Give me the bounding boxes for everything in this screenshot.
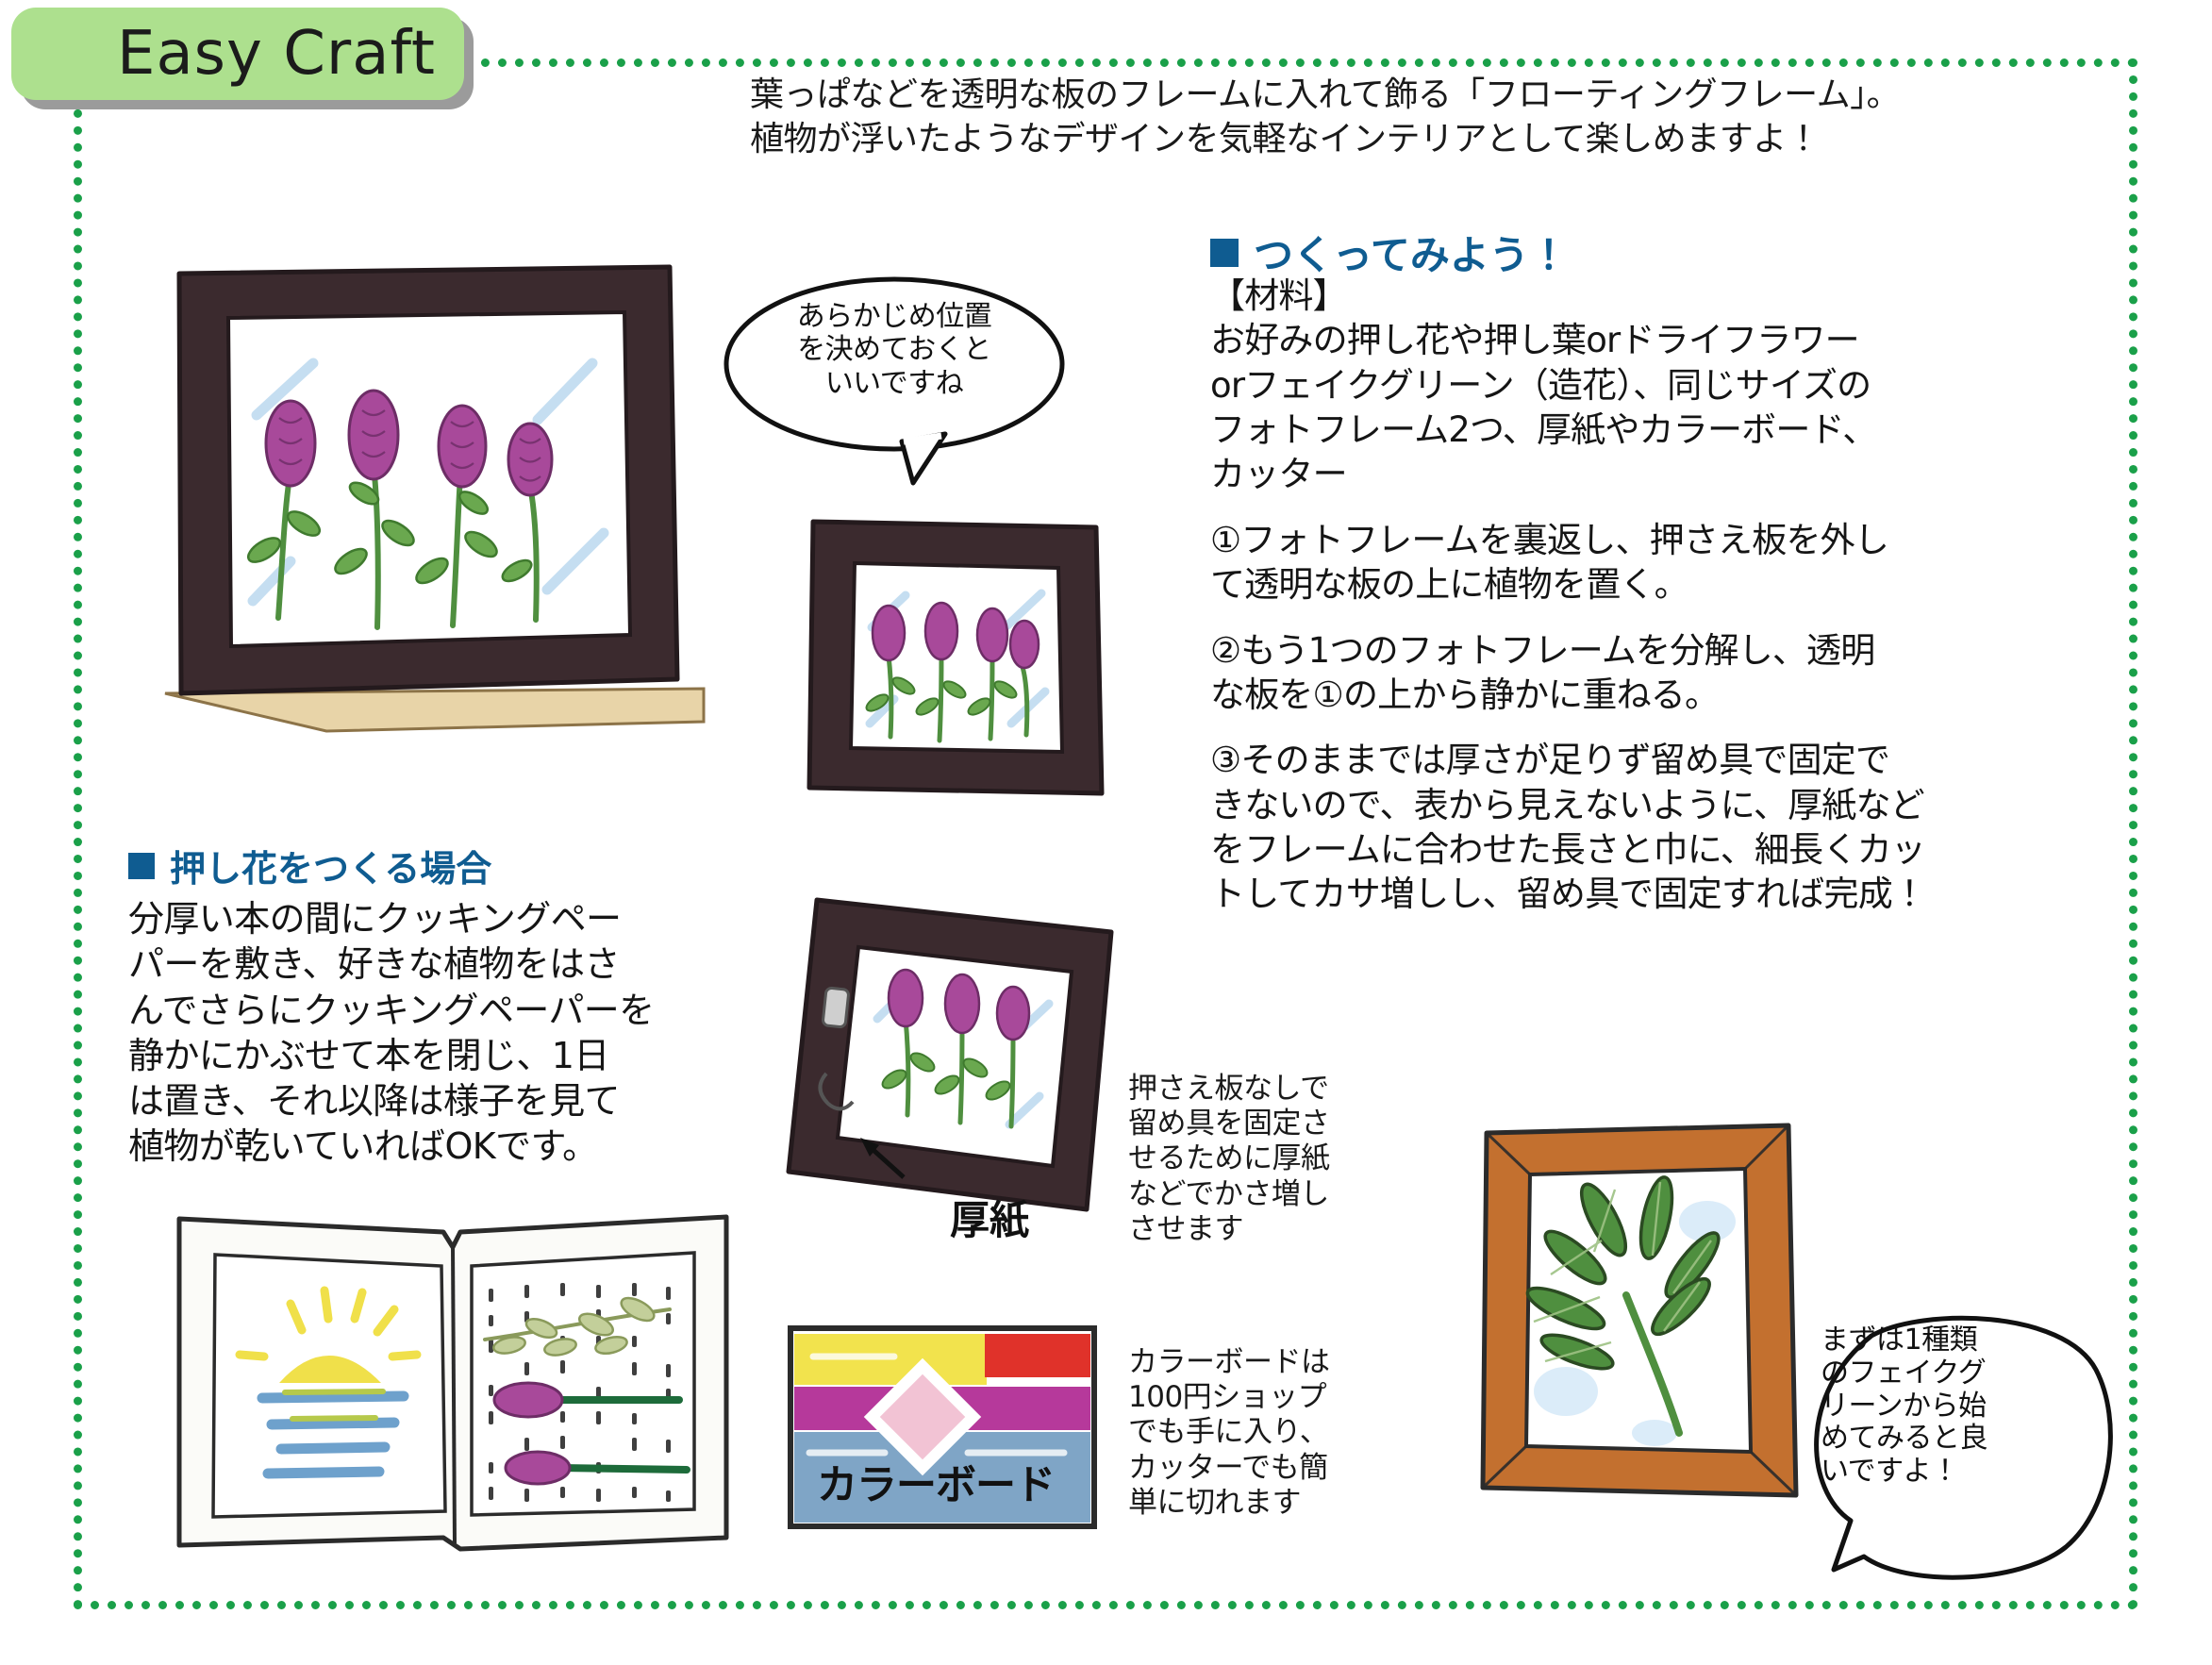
materials-line: お好みの押し花や押し葉orドライフラワー [1210,318,1993,362]
caption-colorboard: カラーボードは 100円ショップ でも手に入り、 カッターでも簡 単に切れます [1128,1345,1383,1521]
page-title: Easy Craft [11,19,436,89]
bubble-line: いいですね [724,367,1064,400]
materials-label: 【材料】 [1210,274,1993,318]
caption-line: させます [1128,1212,1383,1247]
materials-block: 【材料】 お好みの押し花や押し葉orドライフラワー orフェイクグリーン（造花）… [1210,274,1993,497]
square-bullet-icon [1210,239,1239,267]
bubble-line: のフェイクグ [1821,1357,2077,1390]
caption-line: カラーボードは [1128,1345,1383,1380]
caption-line: 単に切れます [1128,1486,1383,1521]
caption-line: でも手に入り、 [1128,1415,1383,1450]
page-root: Easy Craft 葉っぱなどを透明な板のフレームに入れて飾る「フローティング… [0,0,2212,1665]
body-line: は置き、それ以降は様子を見て [128,1078,770,1124]
materials-line: フォトフレーム2つ、厚紙やカラーボード、 [1210,408,1993,452]
step-line: ①フォトフレームを裏返し、押さえ板を外し [1210,518,1993,562]
step-1: ①フォトフレームを裏返し、押さえ板を外し て透明な板の上に植物を置く。 [1210,518,1993,608]
bubble-line: リーンから始 [1821,1390,2077,1424]
make-it-heading-text: つくってみよう！ [1254,224,1569,281]
caption-line: などでかさ増し [1128,1177,1383,1212]
body-line: 分厚い本の間にクッキングペー [128,896,770,941]
press-flower-body: 分厚い本の間にクッキングペー パーを敷き、好きな植物をはさ んでさらにクッキング… [128,896,770,1170]
press-flower-heading-text: 押し花をつくる場合 [170,840,491,891]
caption-line: 押さえ板なしで [1128,1072,1383,1107]
step-line: な板を①の上から静かに重ねる。 [1210,673,1993,717]
body-line: パーを敷き、好きな植物をはさ [128,941,770,987]
make-it-heading: つくってみよう！ [1210,224,1569,281]
caption-atsugami: 押さえ板なしで 留め具を固定さ せるために厚紙 などでかさ増し させます [1128,1072,1383,1247]
caption-line: 留め具を固定さ [1128,1107,1383,1141]
intro-text: 葉っぱなどを透明な板のフレームに入れて飾る「フローティングフレーム」。 植物が浮… [750,74,2089,162]
step-line: トしてカサ増しし、留め具で固定すれば完成！ [1210,872,1993,916]
step-line: きないので、表から見えないように、厚紙など [1210,783,1993,827]
bubble-line: めてみると良 [1821,1423,2077,1456]
intro-line: 植物が浮いたようなデザインを気軽なインテリアとして楽しめますよ！ [750,118,2089,162]
intro-line: 葉っぱなどを透明な板のフレームに入れて飾る「フローティングフレーム」。 [750,74,2089,118]
step-2: ②もう1つのフォトフレームを分解し、透明 な板を①の上から静かに重ねる。 [1210,628,1993,718]
illustration-wood-frame-leaf [1460,1108,1819,1514]
body-line: んでさらにクッキングペーパーを [128,988,770,1033]
body-line: 植物が乾いていればOKです。 [128,1124,770,1169]
square-bullet-icon [128,853,155,879]
body-line: 静かにかぶせて本を閉じ、1日 [128,1033,770,1078]
materials-line: orフェイクグリーン（造花）、同じサイズの [1210,363,1993,408]
illustration-small-frame [792,505,1123,816]
step-line: ②もう1つのフォトフレームを分解し、透明 [1210,628,1993,673]
step-line: をフレームに合わせた長さと巾に、細長くカッ [1210,827,1993,872]
speech-bubble-top-text: あらかじめ位置 を決めておくと いいですね [724,300,1064,400]
colorboard-art-label: カラーボード [817,1453,1055,1511]
make-it-body: 【材料】 お好みの押し花や押し葉orドライフラワー orフェイクグリーン（造花）… [1210,274,1993,917]
press-flower-heading: 押し花をつくる場合 [128,840,491,891]
caption-line: 100円ショップ [1128,1380,1383,1415]
bubble-line: を決めておくと [724,333,1064,366]
bubble-line: いですよ！ [1821,1456,2077,1489]
illustration-open-book [160,1198,745,1575]
step-3: ③そのままでは厚さが足りず留め具で固定で きないので、表から見えないように、厚紙… [1210,738,1993,916]
caption-line: せるために厚紙 [1128,1141,1383,1176]
step-line: て透明な板の上に植物を置く。 [1210,562,1993,607]
caption-line: カッターでも簡 [1128,1451,1383,1486]
bubble-line: あらかじめ位置 [724,300,1064,333]
atsugami-art-label: 厚紙 [950,1189,1029,1246]
illustration-large-frame [141,250,726,778]
step-line: ③そのままでは厚さが足りず留め具で固定で [1210,738,1993,782]
materials-line: カッター [1210,452,1993,496]
page-title-chip: Easy Craft [11,8,464,100]
bubble-line: まずは1種類 [1821,1324,2077,1357]
speech-bubble-bottom-text: まずは1種類 のフェイクグ リーンから始 めてみると良 いですよ！ [1821,1324,2077,1489]
